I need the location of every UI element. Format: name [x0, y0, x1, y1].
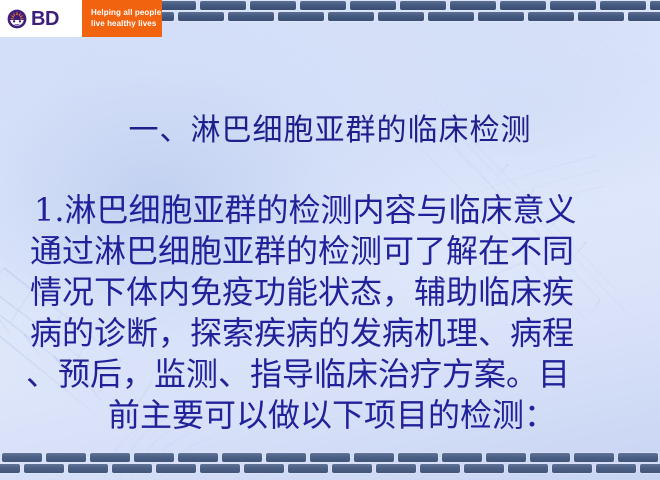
- bd-tagline-line-2: live healthy lives: [91, 19, 162, 30]
- presentation-slide: BD Helping all people live healthy lives…: [0, 0, 660, 480]
- body-line-1: 1.淋巴细胞亚群的检测内容与临床意义: [34, 190, 638, 231]
- bd-wordmark: BD: [31, 9, 59, 29]
- bd-tagline-block: Helping all people live healthy lives: [82, 0, 162, 37]
- body-line-6: 前主要可以做以下项目的检测：: [26, 395, 638, 436]
- bd-logo-bar: BD Helping all people live healthy lives: [0, 0, 162, 37]
- body-line-5: 、预后，监测、指导临床治疗方案。目: [26, 354, 638, 395]
- bd-logo-block: BD: [0, 0, 82, 37]
- slide-body: 1.淋巴细胞亚群的检测内容与临床意义 通过淋巴细胞亚群的检测可了解在不同 情况下…: [26, 190, 638, 436]
- bd-sunburst-icon: [7, 9, 27, 29]
- body-line-2: 通过淋巴细胞亚群的检测可了解在不同: [30, 231, 638, 272]
- body-line-4: 病的诊断，探索疾病的发病机理、病程: [30, 313, 638, 354]
- slide-title: 一、淋巴细胞亚群的临床检测: [0, 112, 660, 150]
- slide-content: 一、淋巴细胞亚群的临床检测 1.淋巴细胞亚群的检测内容与临床意义 通过淋巴细胞亚…: [0, 0, 660, 480]
- body-line-3: 情况下体内免疫功能状态，辅助临床疾: [30, 272, 638, 313]
- bd-tagline-line-1: Helping all people: [91, 8, 162, 19]
